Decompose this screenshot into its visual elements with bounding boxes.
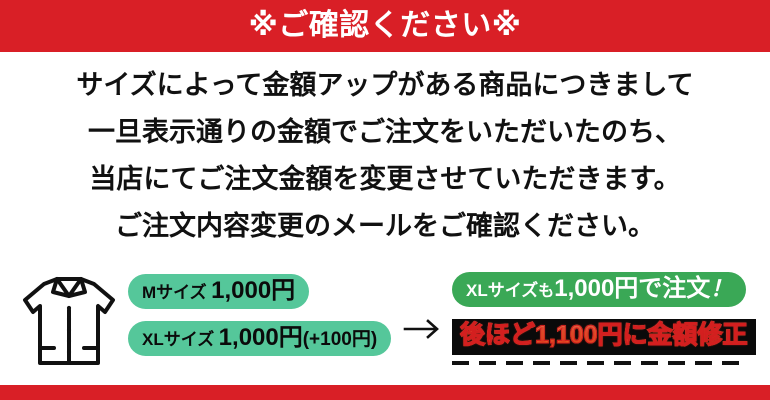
notice-banner: ※ご確認ください※ サイズによって金額アップがある商品につきまして 一旦表示通り… [0,0,770,400]
right-arrow-icon [400,314,446,344]
message-line-3: 当店にてご注文金額を変更させていただきます。 [0,156,770,203]
banner-header: ※ご確認ください※ [0,0,770,52]
after-prices: XLサイズも1,000円で注文！ 後ほど1,100円に金額修正 [452,272,758,365]
price-row-m: Mサイズ 1,000円 [128,274,390,309]
price-value-xl: 1,000円 [219,324,303,351]
price-value-m: 1,000円 [211,277,295,304]
size-label-xl-after: XLサイズ [466,281,538,300]
banner-footer [0,385,770,400]
correction-text: 後ほど1,100円に金額修正 [460,321,748,349]
price-value-xl-after: 1,000円で注文 [554,275,710,302]
price-pill-xl-after: XLサイズも1,000円で注文！ [452,272,746,307]
shirt-icon [16,270,122,370]
particle-mo: も [538,283,554,300]
size-label-xl: XLサイズ [142,330,214,349]
price-row-xl-after: XLサイズも1,000円で注文！ [452,272,758,307]
price-pill-xl: XLサイズ 1,000円(+100円) [128,321,391,356]
price-row-xl: XLサイズ 1,000円(+100円) [128,321,390,356]
message-line-1: サイズによって金額アップがある商品につきまして [0,62,770,109]
size-label-m: Mサイズ [142,283,207,302]
message-line-2: 一旦表示通りの金額でご注文をいただいたのち、 [0,109,770,156]
price-comparison: Mサイズ 1,000円 XLサイズ 1,000円(+100円) [0,262,770,382]
price-pill-m: Mサイズ 1,000円 [128,274,309,309]
correction-note: 後ほど1,100円に金額修正 [452,319,758,365]
exclamation-mark: ！ [710,276,732,301]
correction-highlight-box: 後ほど1,100円に金額修正 [452,319,756,355]
price-extra-xl: (+100円) [303,329,377,350]
header-title: ※ご確認ください※ [249,11,522,41]
dashed-underline [452,361,748,365]
notice-message: サイズによって金額アップがある商品につきまして 一旦表示通りの金額でご注文をいた… [0,62,770,250]
before-prices: Mサイズ 1,000円 XLサイズ 1,000円(+100円) [128,274,390,356]
message-line-4: ご注文内容変更のメールをご確認ください。 [0,203,770,250]
